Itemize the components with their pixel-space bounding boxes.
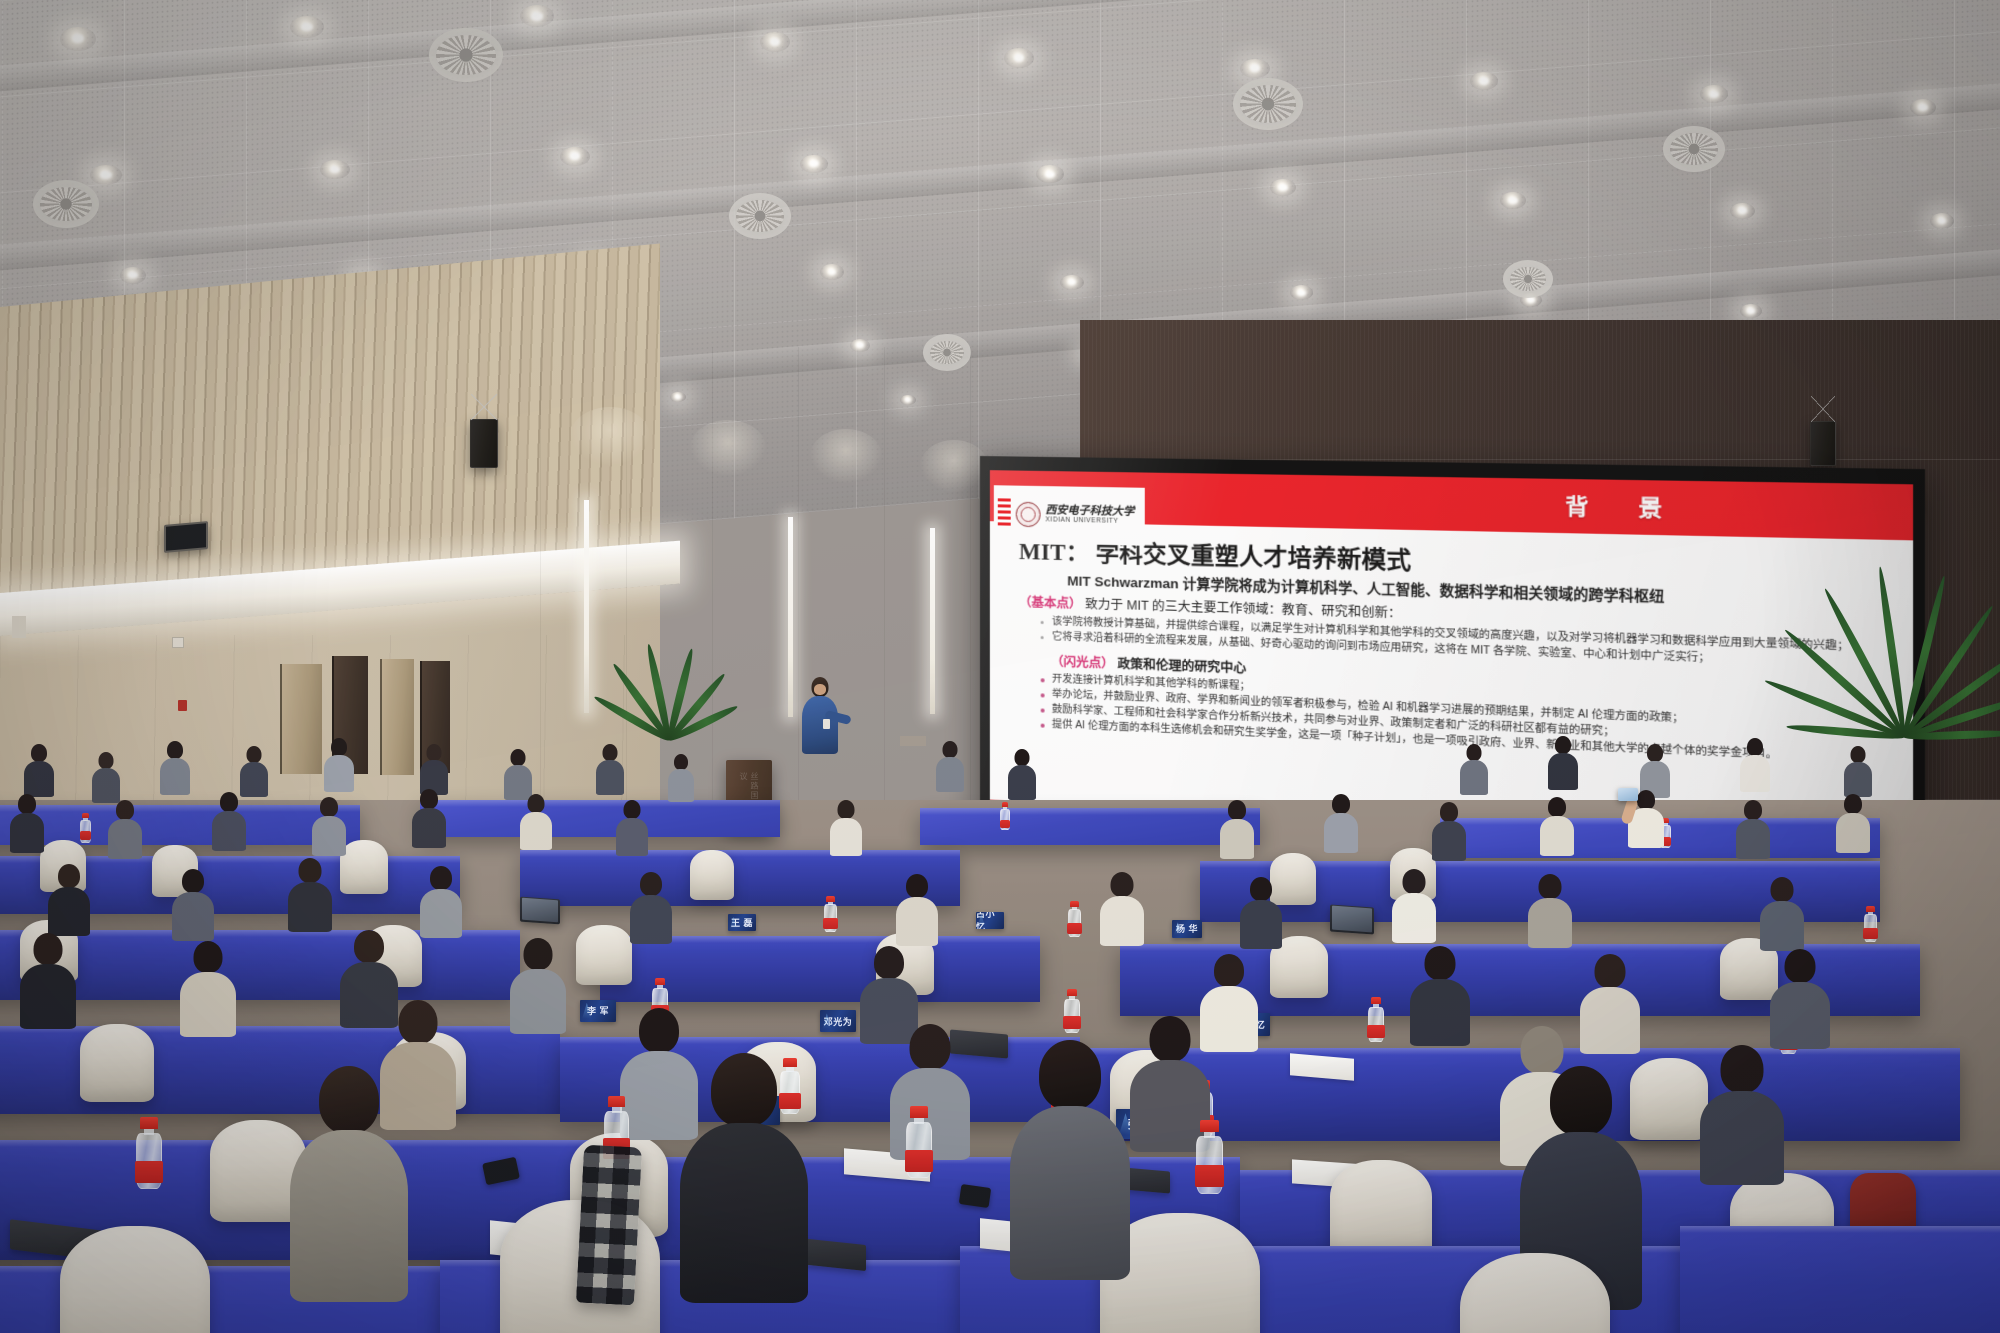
attendee-head [711, 1053, 777, 1127]
attendee-head [167, 741, 183, 759]
attendee-torso [596, 760, 624, 795]
attendee [420, 744, 448, 794]
ceiling-downlight [560, 147, 590, 166]
bottle-label [1063, 1016, 1080, 1029]
attendee-head [220, 792, 238, 812]
attendee-head [1332, 794, 1350, 814]
attendee [1548, 736, 1578, 788]
hvac-diffuser [436, 35, 496, 75]
water-bottle[interactable] [1068, 901, 1081, 937]
logo-text-block: 西安电子科技大学 XIDIAN UNIVERSITY [1045, 505, 1134, 525]
vertical-light-strip [584, 500, 589, 713]
attendee-torso [1700, 1091, 1784, 1185]
attendee-torso [1392, 893, 1436, 943]
attendee-head [34, 933, 63, 965]
attendee [1410, 946, 1470, 1046]
ceiling-downlight [1730, 203, 1755, 219]
attendee [212, 792, 246, 850]
ceiling-downlight [820, 264, 844, 280]
ceiling-downlight [120, 267, 146, 284]
bottle-label [135, 1161, 163, 1183]
bottle-cap [1200, 1120, 1218, 1132]
attendee [240, 746, 268, 796]
attendee [10, 794, 44, 852]
attendee-torso [288, 882, 332, 932]
attendee-head [99, 752, 114, 769]
attendee [936, 741, 964, 791]
bottle-cap [1866, 906, 1875, 912]
water-bottle[interactable] [80, 813, 91, 843]
attendee-head [528, 794, 545, 813]
attendee-head [194, 941, 223, 973]
attendee-torso [1740, 755, 1770, 792]
attendee [1240, 877, 1282, 949]
potted-palm-right [1780, 447, 2000, 737]
attendee [180, 941, 236, 1037]
attendee-head [31, 744, 47, 762]
bottle-cap [1067, 989, 1078, 996]
attendee [324, 738, 354, 790]
attendee [830, 800, 862, 856]
logo-stripes-icon [998, 498, 1011, 528]
vertical-light-strip [930, 528, 935, 715]
water-bottle[interactable] [1196, 1120, 1223, 1194]
attendee-torso [630, 895, 672, 944]
attendee [92, 752, 120, 802]
attendee-torso [160, 758, 190, 795]
attendee-head [1039, 1040, 1101, 1110]
laptop[interactable] [1330, 905, 1374, 935]
bottle-cap [826, 896, 835, 902]
table-foreground-far-right [1680, 1226, 2000, 1333]
attendee-head [1744, 800, 1762, 820]
attendee-head [427, 744, 442, 761]
university-logo: 西安电子科技大学 XIDIAN UNIVERSITY [994, 485, 1145, 545]
attendee-head [430, 866, 452, 890]
attendee [616, 800, 648, 856]
attendee [1220, 800, 1254, 858]
door-panel[interactable] [280, 664, 322, 774]
attendee-torso [324, 755, 354, 792]
wall-wash-glow [920, 440, 988, 492]
attendee [1528, 874, 1572, 948]
attendee-torso [290, 1130, 408, 1302]
attendee-head [420, 789, 438, 809]
bottle-label [1000, 820, 1011, 828]
attendee [896, 874, 938, 946]
attendee-torso [1008, 765, 1036, 800]
attendee-torso [24, 761, 54, 797]
university-seal-icon [1016, 501, 1041, 527]
attendee-torso [680, 1123, 808, 1303]
attendee [1580, 954, 1640, 1054]
bottle-cap [608, 1096, 625, 1107]
attendee-head [58, 864, 80, 888]
section-keyword: （闪光点） [1051, 655, 1114, 671]
attendee-torso [1460, 760, 1488, 795]
attendee-torso [1760, 901, 1804, 951]
laptop-screen [522, 898, 559, 922]
attendee-foreground [680, 1053, 808, 1303]
wall-wash-glow [570, 407, 650, 465]
attendee-head [1844, 794, 1862, 814]
attendee-foreground [290, 1066, 408, 1302]
hanging-speaker [470, 419, 498, 468]
attendee [312, 797, 346, 855]
attendee-torso [92, 768, 120, 803]
attendee-torso [1100, 896, 1144, 946]
bottle-label [1863, 928, 1877, 939]
name-card: 王 磊 [728, 914, 756, 931]
attendee [24, 744, 54, 796]
attendee-torso [510, 969, 566, 1034]
attendee-head [182, 869, 204, 893]
attendee-head [1785, 949, 1816, 983]
attendee-head [511, 749, 526, 766]
attendee-head [354, 930, 384, 963]
attendee [1836, 794, 1870, 852]
attendee [1432, 802, 1466, 860]
attendee-torso [1580, 987, 1640, 1054]
water-bottle[interactable] [1368, 997, 1384, 1042]
chair[interactable] [576, 925, 632, 985]
attendee-head [1595, 954, 1626, 988]
basic-keyword: （基本点） [1019, 595, 1082, 611]
attendee-head [639, 1008, 679, 1053]
attendee-head [1637, 790, 1655, 810]
wall-wash-glow [810, 429, 882, 483]
attendee-head [320, 797, 338, 817]
name-card: 邓光为 [820, 1010, 856, 1032]
ceiling-downlight [1500, 192, 1526, 209]
attendee-torso [1836, 813, 1870, 853]
attendee-torso [420, 889, 462, 938]
attendee [1008, 749, 1036, 799]
attendee [1392, 869, 1436, 943]
table-far-right-a [920, 808, 1260, 845]
attendee [504, 749, 532, 799]
attendee-head [1747, 738, 1763, 756]
attendee-head [1440, 802, 1458, 822]
attendee-torso [1770, 982, 1830, 1049]
attendee-head [943, 741, 958, 758]
attendee-head [1214, 954, 1244, 987]
plaid-shirt-on-chair [576, 1145, 642, 1306]
attendee-torso [830, 818, 862, 856]
attendee-torso [180, 972, 236, 1037]
attendee [1460, 744, 1488, 794]
fire-alarm-box [178, 700, 187, 711]
hvac-diffuser [40, 187, 92, 221]
attendee-head [874, 946, 904, 979]
attendee-head [1111, 872, 1134, 897]
water-bottle[interactable] [906, 1106, 932, 1178]
attendee [668, 754, 694, 802]
attendee-head [910, 1024, 951, 1070]
bottle-cap [1371, 997, 1382, 1004]
attendee [1540, 797, 1574, 855]
table-far-left [0, 805, 360, 845]
attendee-torso [1844, 762, 1872, 797]
attendee-torso [1736, 819, 1770, 859]
ceiling-downlight [1240, 59, 1270, 78]
attendee-torso [520, 812, 552, 850]
attendee-head [1771, 877, 1794, 902]
attendee-torso [668, 769, 694, 802]
attendee [1740, 738, 1770, 790]
bottle-label [80, 831, 92, 840]
presenter [800, 677, 840, 763]
attendee [412, 789, 446, 847]
attendee-head [1555, 736, 1571, 754]
ceiling-downlight [800, 155, 828, 173]
door-panel[interactable] [380, 659, 414, 775]
bottle-label [823, 918, 837, 929]
attendee-torso [48, 887, 90, 936]
chair[interactable] [60, 1226, 210, 1333]
attendee-head [18, 794, 36, 814]
bottle-cap [910, 1106, 928, 1118]
water-bottle[interactable] [1864, 906, 1877, 942]
ceiling-downlight [320, 160, 350, 179]
ceiling-downlight [760, 32, 790, 52]
attendee-head [624, 800, 641, 819]
attendee [172, 869, 214, 941]
water-bottle[interactable] [1000, 802, 1010, 830]
attendee-torso [1324, 813, 1358, 853]
attendee-head [331, 738, 347, 756]
attendee-torso [10, 813, 44, 853]
attendee-torso [616, 818, 648, 856]
ceiling-downlight [1740, 304, 1762, 318]
conference-hall-photo: 背 景 西安电子科技大学 XIDIAN UNIVERSITY MIT： 学科交叉… [0, 0, 2000, 1333]
section-rest: 政策和伦理的研究中心 [1118, 657, 1247, 676]
table-row3-left [0, 930, 520, 999]
laptop[interactable] [520, 897, 560, 925]
attendee [630, 872, 672, 944]
attendee-head [640, 872, 662, 896]
attendee [1700, 1045, 1784, 1185]
chair[interactable] [340, 840, 388, 894]
attendee-head [838, 800, 855, 819]
attendee-torso [412, 808, 446, 848]
attendee-head [1150, 1016, 1191, 1062]
bottle-label [1367, 1025, 1384, 1039]
attendee-head [1250, 877, 1272, 901]
attendee-head [1228, 800, 1246, 820]
attendee-head [299, 858, 322, 883]
ceiling-downlight [1270, 179, 1296, 196]
attendee-head [1015, 749, 1030, 766]
attendee-torso [936, 757, 964, 792]
attendee [420, 866, 462, 938]
attendee-head [1550, 1066, 1612, 1136]
ceiling-downlight [1004, 48, 1034, 68]
bottle-label [1195, 1165, 1224, 1187]
attendee-head [1851, 746, 1866, 763]
attendee-head [399, 1000, 438, 1044]
name-card: 占小忆 [976, 912, 1004, 929]
table-mid-center [520, 850, 960, 906]
attendee-torso [1528, 898, 1572, 948]
attendee-torso [1010, 1106, 1130, 1280]
ceiling-downlight [1060, 275, 1084, 290]
attendee [1736, 800, 1770, 858]
attendee-head [247, 746, 262, 763]
bottle-cap [655, 978, 666, 985]
attendee-torso [1240, 900, 1282, 949]
water-bottle[interactable] [824, 896, 837, 932]
name-card: 杨 华 [1172, 920, 1202, 938]
attendee-torso [1220, 819, 1254, 859]
attendee-head [524, 938, 553, 970]
ceiling-downlight [1470, 72, 1498, 90]
hvac-diffuser [736, 200, 784, 232]
attendee [1760, 877, 1804, 951]
ceiling-downlight [1910, 99, 1936, 116]
attendee-torso [1548, 753, 1578, 790]
attendee-head [1647, 744, 1663, 762]
attendee-foreground [1010, 1040, 1130, 1280]
water-bottle[interactable] [1064, 989, 1080, 1033]
attendee [1324, 794, 1358, 852]
attendee-torso [312, 816, 346, 856]
attendee-torso [108, 819, 142, 859]
attendee [288, 858, 332, 932]
attendee-torso [172, 892, 214, 941]
wall-wash-glow [690, 420, 766, 476]
attendee [160, 741, 190, 793]
vertical-light-strip [788, 517, 793, 717]
wall-plaque [900, 736, 926, 746]
attendee-head [116, 800, 134, 820]
table-far-center [420, 800, 780, 837]
bottle-cap [82, 813, 89, 818]
wall-monitor [164, 521, 208, 553]
presenter-badge [823, 719, 830, 729]
hvac-diffuser [1510, 267, 1546, 291]
attendee-head [1721, 1045, 1764, 1093]
attendee [510, 938, 566, 1034]
attendee [520, 794, 552, 850]
attendee [20, 933, 76, 1029]
attendee-torso [212, 811, 246, 851]
name-card: 李 军 [580, 1000, 616, 1022]
chair[interactable] [690, 850, 734, 900]
chair[interactable] [80, 1024, 154, 1102]
bottle-label [905, 1150, 933, 1172]
attendee-head [1548, 797, 1566, 817]
attendee-head [1403, 869, 1426, 894]
attendee-torso [20, 964, 76, 1029]
attendee [108, 800, 142, 858]
attendee-head [1467, 744, 1482, 761]
ceiling-downlight [290, 16, 324, 38]
bottle-cap [1002, 802, 1009, 806]
attendee-head [1425, 946, 1456, 980]
attendee-head [674, 754, 688, 770]
presenter-face [814, 684, 826, 695]
presenter-torso [802, 696, 838, 754]
attendee-taking-photo [1628, 786, 1664, 848]
attendee-torso [896, 897, 938, 946]
smartphone-camera[interactable] [1618, 788, 1638, 801]
bottle-label [1067, 923, 1081, 934]
attendee [596, 744, 624, 794]
ceiling-downlight [60, 27, 96, 51]
water-bottle[interactable] [136, 1117, 162, 1189]
wall-outlet [172, 637, 184, 648]
attendee [48, 864, 90, 936]
bottle-cap [140, 1117, 158, 1129]
attendee-torso [1540, 816, 1574, 856]
potted-palm-center [590, 580, 740, 740]
attendee-head [906, 874, 928, 898]
attendee [1844, 746, 1872, 796]
attendee-head [603, 744, 618, 761]
bottle-cap [1070, 901, 1079, 907]
laptop-screen [1332, 906, 1372, 932]
attendee-torso [1410, 979, 1470, 1046]
attendee-head [1539, 874, 1562, 899]
wall-outlet [12, 616, 26, 638]
attendee-head [319, 1066, 379, 1134]
attendee [1100, 872, 1144, 946]
attendee [1770, 949, 1830, 1049]
attendee-torso [1432, 821, 1466, 861]
